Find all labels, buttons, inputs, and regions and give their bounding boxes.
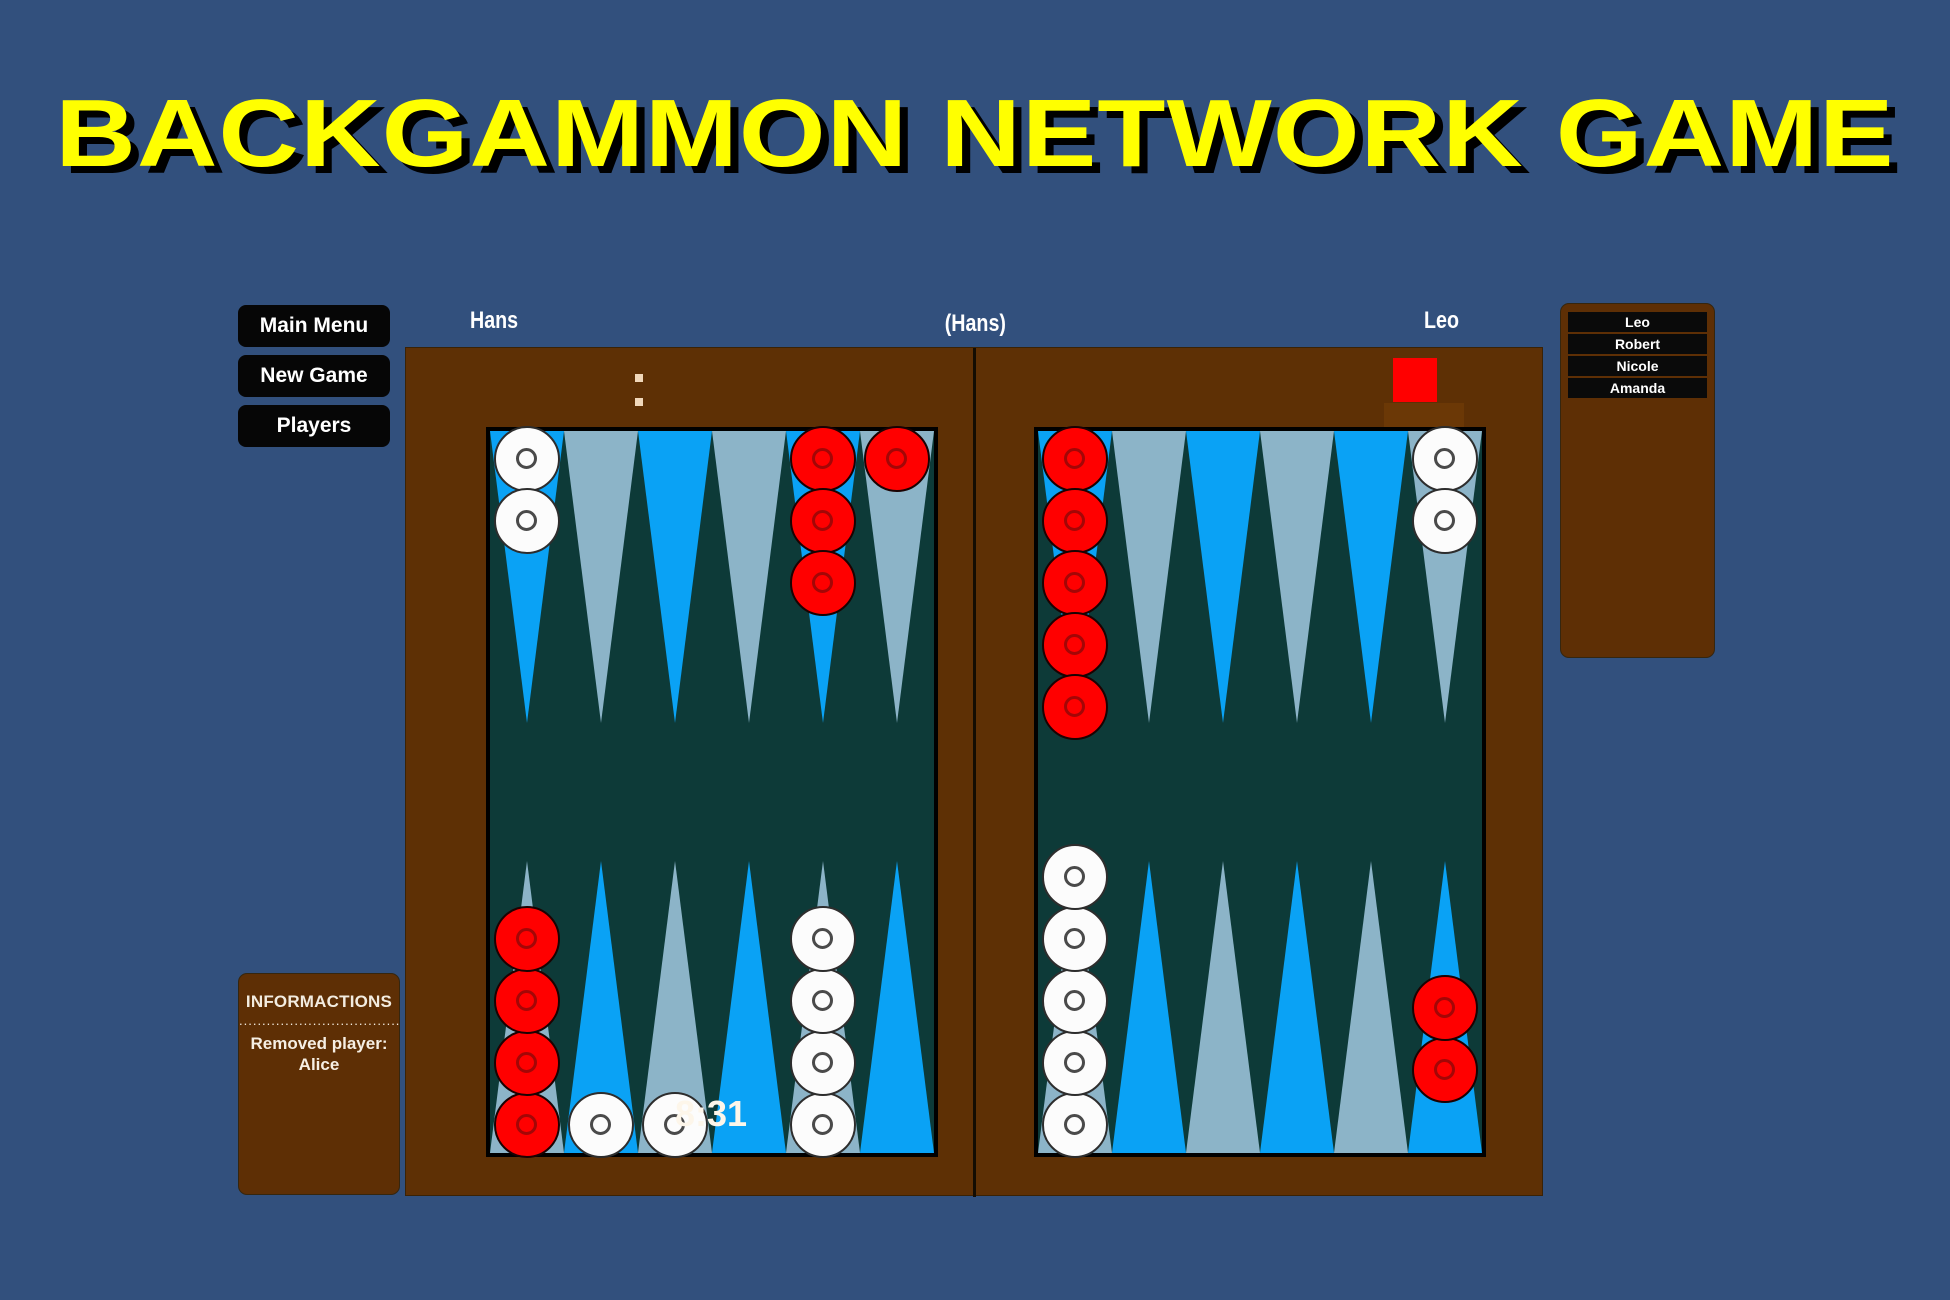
quadrant-right-top bbox=[1038, 431, 1482, 723]
players-list-panel: Leo Robert Nicole Amanda bbox=[1560, 303, 1715, 658]
point-right-top-4[interactable] bbox=[1260, 431, 1334, 723]
checker-white[interactable] bbox=[1042, 906, 1108, 972]
quadrant-right-bottom bbox=[1038, 861, 1482, 1153]
player-list-item[interactable]: Leo bbox=[1568, 312, 1707, 332]
point-right-bottom-2[interactable] bbox=[1112, 861, 1186, 1153]
checker-white[interactable] bbox=[494, 488, 560, 554]
point-triangle bbox=[1186, 431, 1260, 723]
checker-red[interactable] bbox=[1042, 488, 1108, 554]
checker-stack[interactable] bbox=[860, 428, 934, 490]
player-name-left: Hans bbox=[470, 307, 518, 335]
checker-red[interactable] bbox=[790, 550, 856, 616]
checker-red[interactable] bbox=[790, 488, 856, 554]
board-center-bar bbox=[973, 348, 976, 1197]
checker-stack[interactable] bbox=[1038, 428, 1112, 738]
point-right-top-5[interactable] bbox=[1334, 431, 1408, 723]
point-left-top-5[interactable] bbox=[786, 431, 860, 723]
checker-white[interactable] bbox=[1412, 488, 1478, 554]
checker-stack[interactable] bbox=[1408, 428, 1482, 552]
informations-heading: INFORMACTIONS bbox=[239, 992, 399, 1012]
point-right-bottom-6[interactable] bbox=[1408, 861, 1482, 1153]
checker-red[interactable] bbox=[864, 426, 930, 492]
point-left-top-2[interactable] bbox=[564, 431, 638, 723]
checker-red[interactable] bbox=[790, 426, 856, 492]
player-list-item[interactable]: Robert bbox=[1568, 334, 1707, 354]
point-triangle bbox=[1334, 431, 1408, 723]
player-list-item[interactable]: Nicole bbox=[1568, 356, 1707, 376]
point-right-bottom-4[interactable] bbox=[1260, 861, 1334, 1153]
play-field-right[interactable] bbox=[1034, 427, 1486, 1157]
point-left-top-3[interactable] bbox=[638, 431, 712, 723]
point-right-top-6[interactable] bbox=[1408, 431, 1482, 723]
checker-red[interactable] bbox=[494, 968, 560, 1034]
turn-indicator-red-square bbox=[1393, 358, 1437, 402]
checker-white[interactable] bbox=[790, 968, 856, 1034]
point-right-bottom-5[interactable] bbox=[1334, 861, 1408, 1153]
point-right-top-2[interactable] bbox=[1112, 431, 1186, 723]
checker-red[interactable] bbox=[1042, 674, 1108, 740]
checker-red[interactable] bbox=[1412, 1037, 1478, 1103]
point-triangle bbox=[564, 431, 638, 723]
informations-separator: ...................................... bbox=[239, 1013, 399, 1031]
checker-white[interactable] bbox=[790, 1030, 856, 1096]
checker-stack[interactable] bbox=[1408, 977, 1482, 1101]
point-triangle bbox=[1112, 861, 1186, 1153]
point-right-bottom-1[interactable] bbox=[1038, 861, 1112, 1153]
checker-white[interactable] bbox=[1412, 426, 1478, 492]
checker-red[interactable] bbox=[494, 906, 560, 972]
point-triangle bbox=[1260, 431, 1334, 723]
dice-placeholder-icon bbox=[635, 374, 643, 382]
point-triangle bbox=[1112, 431, 1186, 723]
quadrant-left-top bbox=[490, 431, 934, 723]
checker-red[interactable] bbox=[1042, 612, 1108, 678]
new-game-button[interactable]: New Game bbox=[238, 355, 390, 397]
checker-white[interactable] bbox=[790, 906, 856, 972]
main-menu-button[interactable]: Main Menu bbox=[238, 305, 390, 347]
checker-white[interactable] bbox=[1042, 1030, 1108, 1096]
menu-panel: Main Menu New Game Players bbox=[238, 305, 390, 455]
backgammon-board[interactable]: 8:31 bbox=[405, 347, 1543, 1196]
checker-white[interactable] bbox=[1042, 1092, 1108, 1158]
play-field-left[interactable] bbox=[486, 427, 938, 1157]
player-list-item[interactable]: Amanda bbox=[1568, 378, 1707, 398]
informations-message: Removed player:Alice bbox=[239, 1033, 399, 1075]
point-left-top-1[interactable] bbox=[490, 431, 564, 723]
checker-red[interactable] bbox=[1042, 550, 1108, 616]
point-triangle bbox=[1260, 861, 1334, 1153]
checker-red[interactable] bbox=[1412, 975, 1478, 1041]
checker-white[interactable] bbox=[1042, 968, 1108, 1034]
game-timer: 8:31 bbox=[546, 1093, 876, 1135]
checker-white[interactable] bbox=[494, 426, 560, 492]
players-button[interactable]: Players bbox=[238, 405, 390, 447]
point-triangle bbox=[712, 431, 786, 723]
point-triangle bbox=[1186, 861, 1260, 1153]
checker-white[interactable] bbox=[1042, 844, 1108, 910]
player-name-right: Leo bbox=[1424, 307, 1459, 335]
active-player-label: (Hans) bbox=[945, 310, 1006, 338]
checker-red[interactable] bbox=[1042, 426, 1108, 492]
point-triangle bbox=[1334, 861, 1408, 1153]
checker-stack[interactable] bbox=[490, 428, 564, 552]
checker-stack[interactable] bbox=[786, 428, 860, 614]
point-triangle bbox=[638, 431, 712, 723]
checker-stack[interactable] bbox=[1038, 846, 1112, 1156]
point-right-bottom-3[interactable] bbox=[1186, 861, 1260, 1153]
point-right-top-1[interactable] bbox=[1038, 431, 1112, 723]
point-left-top-4[interactable] bbox=[712, 431, 786, 723]
informations-panel: INFORMACTIONS ..........................… bbox=[238, 973, 400, 1195]
checker-red[interactable] bbox=[494, 1030, 560, 1096]
point-right-top-3[interactable] bbox=[1186, 431, 1260, 723]
page-title: BACKGAMMON NETWORK GAME bbox=[0, 86, 1950, 182]
point-left-top-6[interactable] bbox=[860, 431, 934, 723]
